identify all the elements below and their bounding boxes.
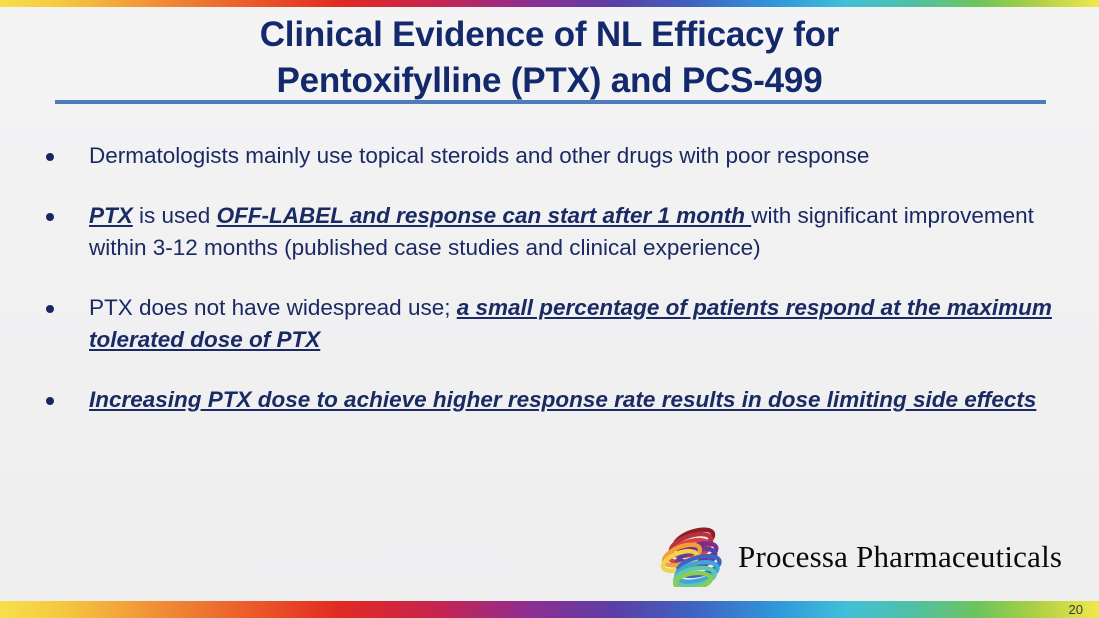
rainbow-gradient-bar-bottom [0,601,1099,618]
emphasized-text-run: PTX [89,203,133,228]
rainbow-gradient-bar-top [0,0,1099,7]
list-item: Dermatologists mainly use topical steroi… [0,140,1099,173]
list-item: Increasing PTX dose to achieve higher re… [0,384,1099,417]
bullet-dot-icon [46,153,54,161]
bullet-list: Dermatologists mainly use topical steroi… [0,140,1099,443]
plain-text-run: is used [133,203,217,228]
plain-text-run: PTX does not have widespread use; [89,295,457,320]
bullet-text-3: PTX does not have widespread use; a smal… [89,292,1099,357]
company-wordmark: Processa Pharmaceuticals [738,539,1062,575]
slide-title-block: Clinical Evidence of NL Efficacy for Pen… [60,12,1039,104]
bullet-dot-icon [46,305,54,313]
bullet-text-2: PTX is used OFF-LABEL and response can s… [89,200,1099,265]
list-item: PTX does not have widespread use; a smal… [0,292,1099,357]
page-number: 20 [1069,602,1083,617]
presentation-slide: Clinical Evidence of NL Efficacy for Pen… [0,0,1099,618]
company-logo: Processa Pharmaceuticals [658,527,1062,587]
title-underline-rule [55,100,1046,104]
bullet-text-1: Dermatologists mainly use topical steroi… [89,140,1099,173]
list-item: PTX is used OFF-LABEL and response can s… [0,200,1099,265]
emphasized-text-run: Increasing PTX dose to achieve higher re… [89,387,1036,412]
bullet-dot-icon [46,397,54,405]
bullet-dot-icon [46,213,54,221]
plain-text-run: Dermatologists mainly use topical steroi… [89,143,869,168]
processa-swirl-rings-icon [658,527,730,587]
emphasized-text-run: OFF-LABEL and response can start after 1… [217,203,752,228]
bullet-text-4: Increasing PTX dose to achieve higher re… [89,384,1099,417]
page-title: Clinical Evidence of NL Efficacy for Pen… [60,12,1039,104]
